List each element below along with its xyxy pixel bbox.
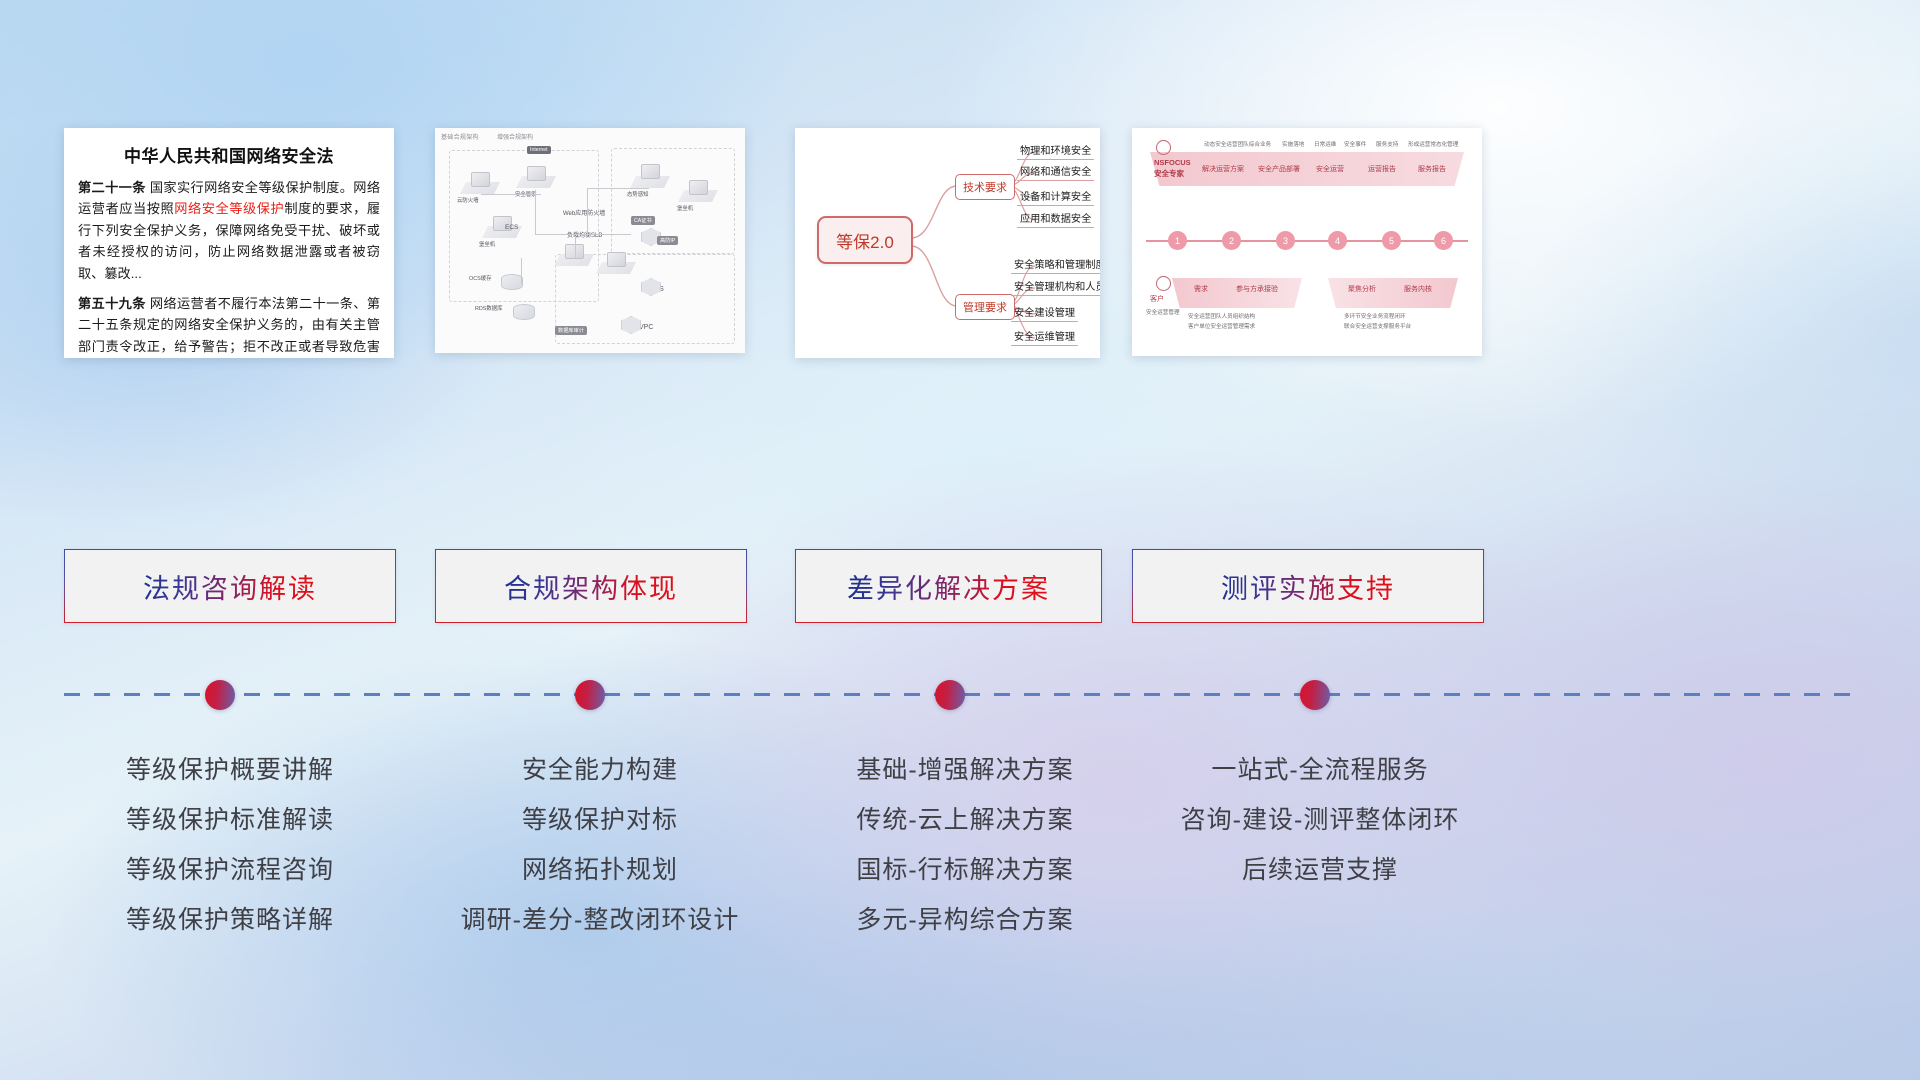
- service-step-3[interactable]: 3: [1276, 231, 1295, 250]
- service-step-4[interactable]: 4: [1328, 231, 1347, 250]
- service-bottom-3: 服务内核: [1404, 284, 1432, 294]
- card-architecture-diagram[interactable]: 基础合规架构 增强合规架构 Internet 云防火墙 安全管家 态势感知 堡垒…: [435, 128, 745, 353]
- arch-tag-3: 堡垒机: [677, 204, 693, 212]
- card-law-document[interactable]: 中华人民共和国网络安全法 第二十一条 国家实行网络安全等级保护制度。网络运营者应…: [64, 128, 394, 358]
- arch-header-left: 基础合规架构: [441, 132, 479, 141]
- service-customer-sub: 安全运营管理: [1146, 308, 1180, 316]
- list-item: 等级保护对标: [410, 795, 790, 845]
- list-item: 网络拓扑规划: [410, 845, 790, 895]
- article-59-label: 第五十九条: [78, 296, 146, 311]
- mindmap-leaf-t1: 网络和通信安全: [1017, 163, 1094, 181]
- mindmap-branch-technical[interactable]: 技术要求: [955, 174, 1015, 200]
- timeline-dot-2[interactable]: [575, 680, 605, 710]
- service-top-item-0: 动态安全运营团队综合业务: [1204, 140, 1271, 148]
- card-mindmap[interactable]: 等保2.0 技术要求 管理要求 物理和环境安全 网络和通信安全 设备和计算安全 …: [795, 128, 1100, 358]
- mindmap-leaf-m1: 安全管理机构和人员: [1011, 278, 1100, 296]
- law-title: 中华人民共和国网络安全法: [78, 142, 380, 167]
- service-note-1: 客户单位安全运营管理需求: [1188, 322, 1255, 330]
- service-top-item-1: 实施落地: [1282, 140, 1304, 148]
- service-step-2[interactable]: 2: [1222, 231, 1241, 250]
- mindmap-leaf-t0: 物理和环境安全: [1017, 142, 1094, 160]
- mindmap-leaf-t3: 应用和数据安全: [1017, 210, 1094, 228]
- list-item: 国标-行标解决方案: [775, 845, 1155, 895]
- mindmap-leaf-m2: 安全建设管理: [1011, 304, 1078, 322]
- arch-tag-ocs: OCS缓存: [469, 274, 491, 282]
- person-icon: [1156, 140, 1171, 155]
- service-note-2: 多环节安全业务流程闭环: [1344, 312, 1406, 320]
- service-top-band: [1150, 152, 1464, 186]
- mindmap-leaf-m0: 安全策略和管理制度: [1011, 256, 1100, 274]
- service-step-5[interactable]: 5: [1382, 231, 1401, 250]
- service-step-1[interactable]: 1: [1168, 231, 1187, 250]
- thumbnail-row: 中华人民共和国网络安全法 第二十一条 国家实行网络安全等级保护制度。网络运营者应…: [0, 128, 1920, 360]
- service-note-0: 安全运营团队人员组织结构: [1188, 312, 1255, 320]
- list-item: 等级保护流程咨询: [40, 845, 420, 895]
- service-phase-3: 运营报告: [1368, 164, 1396, 174]
- detail-column-3: 基础-增强解决方案 传统-云上解决方案 国标-行标解决方案 多元-异构综合方案: [775, 745, 1155, 945]
- service-top-item-4: 服务支持: [1376, 140, 1398, 148]
- article-21-highlight: 网络安全等级保护: [174, 201, 284, 216]
- arch-chip-internet: Internet: [527, 146, 551, 154]
- timeline-dot-3[interactable]: [935, 680, 965, 710]
- arch-tag-4: 堡垒机: [479, 240, 495, 248]
- arch-tag-2: 态势感知: [627, 190, 649, 198]
- customer-icon: [1156, 276, 1171, 291]
- service-top-item-5: 形成运营常态化管理: [1408, 140, 1458, 148]
- detail-columns: 等级保护概要讲解 等级保护标准解读 等级保护流程咨询 等级保护策略详解 安全能力…: [0, 745, 1920, 995]
- service-phase-4: 服务报告: [1418, 164, 1446, 174]
- header-label-3: 差异化解决方案: [847, 567, 1050, 606]
- law-article-21: 第二十一条 国家实行网络安全等级保护制度。网络运营者应当按照网络安全等级保护制度…: [78, 177, 380, 284]
- list-item: 传统-云上解决方案: [775, 795, 1155, 845]
- mindmap-branch-management[interactable]: 管理要求: [955, 294, 1015, 320]
- service-step-6[interactable]: 6: [1434, 231, 1453, 250]
- law-article-59: 第五十九条 网络运营者不履行本法第二十一条、第二十五条规定的网络安全保护义务的，…: [78, 293, 380, 358]
- timeline-dot-1[interactable]: [205, 680, 235, 710]
- card-service-infographic[interactable]: NSFOCUS 安全专家 动态安全运营团队综合业务 实施落地 日常运维 安全事件…: [1132, 128, 1482, 356]
- list-item: 多元-异构综合方案: [775, 895, 1155, 945]
- service-phase-2: 安全运营: [1316, 164, 1344, 174]
- arch-tag-waf: Web应用防火墙: [563, 208, 605, 217]
- timeline-dot-4[interactable]: [1300, 680, 1330, 710]
- arch-header-right: 增强合规架构: [497, 132, 533, 141]
- brand-line-1: NSFOCUS: [1154, 158, 1191, 167]
- article-21-label: 第二十一条: [78, 180, 146, 195]
- detail-column-1: 等级保护概要讲解 等级保护标准解读 等级保护流程咨询 等级保护策略详解: [40, 745, 420, 945]
- service-top-item-2: 日常运维: [1314, 140, 1336, 148]
- detail-column-4: 一站式-全流程服务 咨询-建设-测评整体闭环 后续运营支撑: [1130, 745, 1510, 895]
- mindmap-leaf-m3: 安全运维管理: [1011, 328, 1078, 346]
- service-bottom-2: 聚焦分析: [1348, 284, 1376, 294]
- list-item: 咨询-建设-测评整体闭环: [1130, 795, 1510, 845]
- service-phase-0: 解决运营方案: [1202, 164, 1244, 174]
- header-box-legal-consulting[interactable]: 法规咨询解读: [64, 549, 396, 623]
- service-top-item-3: 安全事件: [1344, 140, 1366, 148]
- header-box-compliance-architecture[interactable]: 合规架构体现: [435, 549, 747, 623]
- arch-chip-ca: CA证书: [631, 216, 655, 225]
- header-row: 法规咨询解读 合规架构体现 差异化解决方案 测评实施支持: [0, 549, 1920, 624]
- list-item: 等级保护标准解读: [40, 795, 420, 845]
- arch-tag-ecs: ECS: [505, 224, 518, 231]
- mindmap-root[interactable]: 等保2.0: [817, 216, 913, 264]
- mindmap-leaf-t2: 设备和计算安全: [1017, 188, 1094, 206]
- list-item: 后续运营支撑: [1130, 845, 1510, 895]
- list-item: 等级保护概要讲解: [40, 745, 420, 795]
- header-label-4: 测评实施支持: [1221, 567, 1395, 606]
- arch-chip-antiddos: 高防IP: [657, 236, 678, 245]
- header-box-assessment-support[interactable]: 测评实施支持: [1132, 549, 1484, 623]
- arch-chip-dbaudit: 数据库审计: [555, 326, 587, 335]
- detail-column-2: 安全能力构建 等级保护对标 网络拓扑规划 调研-差分-整改闭环设计: [410, 745, 790, 945]
- list-item: 调研-差分-整改闭环设计: [410, 895, 790, 945]
- brand-line-2: 安全专家: [1154, 169, 1184, 178]
- service-bottom-0: 需求: [1194, 284, 1208, 294]
- service-brand: NSFOCUS 安全专家: [1154, 158, 1191, 179]
- list-item: 安全能力构建: [410, 745, 790, 795]
- service-rail: [1146, 240, 1468, 242]
- arch-tag-rds: RDS数据库: [475, 304, 503, 312]
- list-item: 一站式-全流程服务: [1130, 745, 1510, 795]
- arch-tag-vpc: VPC: [639, 324, 653, 331]
- service-bottom-1: 参与方承接验: [1236, 284, 1278, 294]
- service-note-3: 联合安全运营支撑服务平台: [1344, 322, 1411, 330]
- header-label-1: 法规咨询解读: [143, 567, 317, 606]
- header-box-differentiated-solution[interactable]: 差异化解决方案: [795, 549, 1102, 623]
- header-label-2: 合规架构体现: [504, 567, 678, 606]
- list-item: 等级保护策略详解: [40, 895, 420, 945]
- service-phase-1: 安全产品部署: [1258, 164, 1300, 174]
- service-customer-title: 客户: [1150, 294, 1164, 304]
- list-item: 基础-增强解决方案: [775, 745, 1155, 795]
- arch-tag-0: 云防火墙: [457, 196, 479, 204]
